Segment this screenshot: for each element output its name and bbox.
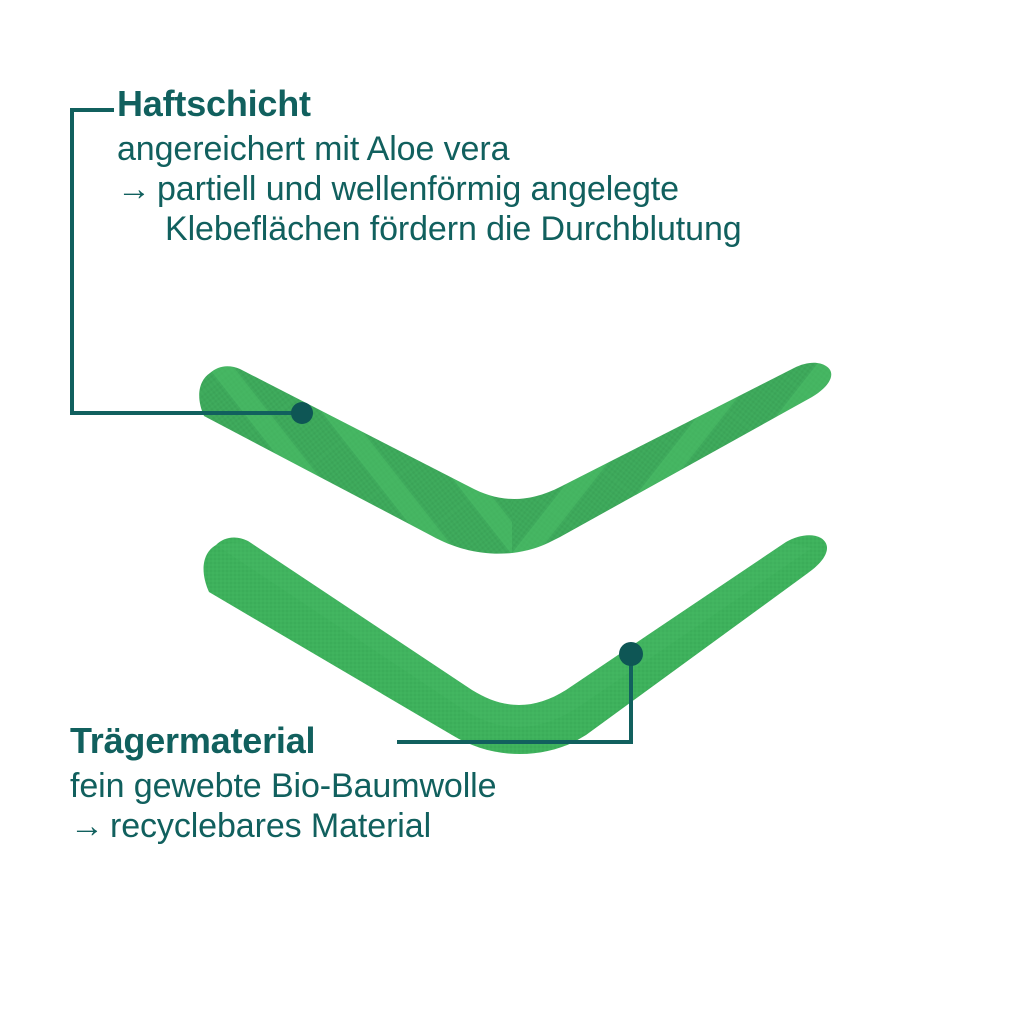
callout-traegermaterial-line-2-text: recyclebares Material [110, 807, 431, 845]
callout-marker-backing[interactable] [619, 642, 643, 666]
callout-haftschicht-title: Haftschicht [117, 86, 742, 122]
callout-traegermaterial-title: Trägermaterial [70, 723, 496, 759]
callout-haftschicht-line-1: angereichert mit Aloe vera [117, 132, 742, 166]
callout-haftschicht-line-2: →partiell und wellenförmig angelegte [117, 172, 742, 206]
callout-traegermaterial-line-2: →recyclebares Material [70, 809, 496, 843]
infographic-canvas: Haftschicht angereichert mit Aloe vera →… [0, 0, 1024, 1024]
callout-haftschicht-line-3: Klebeflächen fördern die Durchblutung [117, 212, 742, 246]
adhesive-layer-shape [0, 300, 1024, 620]
callout-traegermaterial: Trägermaterial fein gewebte Bio-Baumwoll… [70, 723, 496, 849]
arrow-right-icon: → [70, 809, 110, 843]
arrow-right-icon: → [117, 172, 157, 206]
callout-marker-adhesive[interactable] [291, 402, 313, 424]
callout-haftschicht: Haftschicht angereichert mit Aloe vera →… [117, 86, 742, 252]
callout-traegermaterial-line-1: fein gewebte Bio-Baumwolle [70, 769, 496, 803]
callout-haftschicht-line-2-text: partiell und wellenförmig angelegte [157, 170, 679, 208]
